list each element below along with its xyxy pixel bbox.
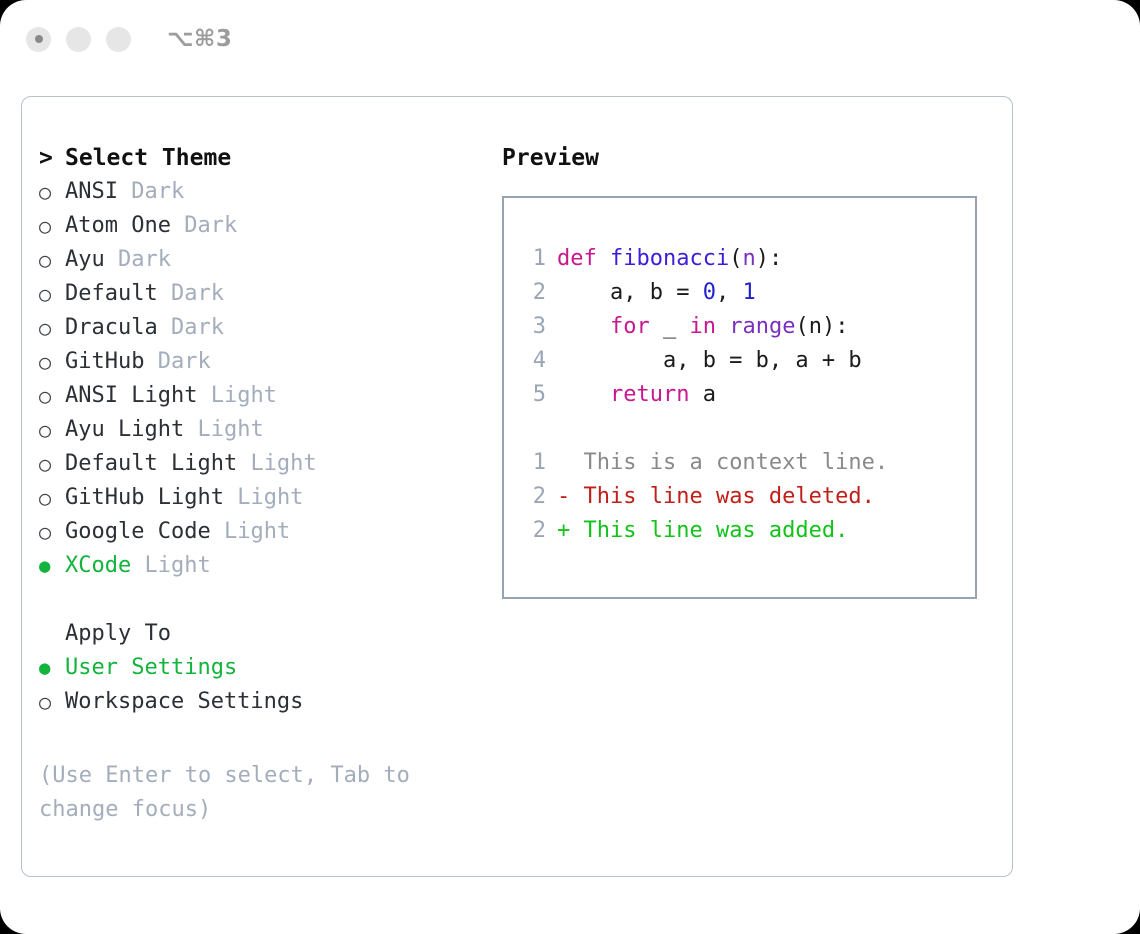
theme-name: ANSI Light (65, 379, 197, 413)
theme-option-ayu[interactable]: ○Ayu Dark (39, 243, 479, 277)
window-dot-active-inner (35, 35, 43, 43)
preview-title: Preview (502, 141, 992, 175)
code-token: ( (729, 242, 742, 276)
theme-option-default-light[interactable]: ○Default Light Light (39, 447, 479, 481)
code-token: def (557, 242, 597, 276)
code-token: 0 (703, 276, 716, 310)
section-spacer (39, 583, 479, 617)
code-line: 4 a, b = b, a + b (516, 344, 975, 378)
line-number: 1 (516, 242, 546, 276)
code-token: range (729, 310, 795, 344)
code-token: return (610, 378, 689, 412)
diff-line-context: 1 This is a context line. (516, 446, 975, 480)
code-token: a, b = (557, 276, 703, 310)
theme-tag: Light (237, 481, 303, 515)
radio-unselected-icon: ○ (39, 685, 65, 719)
radio-unselected-icon: ○ (39, 209, 65, 243)
diff-marker: - (557, 480, 570, 514)
code-token: a, b = b, a + b (557, 344, 862, 378)
diff-text: This is a context line. (570, 446, 888, 480)
apply-to-option-label: User Settings (65, 651, 237, 685)
window-dot-second[interactable] (66, 27, 91, 52)
radio-selected-icon: ● (39, 549, 65, 583)
line-number: 1 (516, 446, 546, 480)
line-number: 2 (516, 276, 546, 310)
code-token: 1 (742, 276, 755, 310)
code-token (557, 310, 610, 344)
theme-tag: Light (211, 379, 277, 413)
code-token: _ (650, 310, 690, 344)
theme-selector-column: >Select Theme ○ANSI Dark ○Atom One Dark … (39, 141, 479, 719)
theme-name: GitHub (65, 345, 144, 379)
diff-text: This line was added. (570, 514, 848, 548)
theme-name: Ayu (65, 243, 105, 277)
diff-line-deleted: 2- This line was deleted. (516, 480, 975, 514)
radio-selected-icon: ● (39, 651, 65, 685)
code-line: 5 return a (516, 378, 975, 412)
theme-name: GitHub Light (65, 481, 224, 515)
code-line: 1def fibonacci(n): (516, 242, 975, 276)
radio-unselected-icon: ○ (39, 515, 65, 549)
diff-line-added: 2+ This line was added. (516, 514, 975, 548)
theme-option-default[interactable]: ○Default Dark (39, 277, 479, 311)
code-token: n (809, 310, 822, 344)
theme-option-ayu-light[interactable]: ○Ayu Light Light (39, 413, 479, 447)
radio-unselected-icon: ○ (39, 447, 65, 481)
theme-name: Atom One (65, 209, 171, 243)
theme-tag: Dark (131, 175, 184, 209)
apply-to-workspace-settings[interactable]: ○Workspace Settings (39, 685, 479, 719)
theme-name: Dracula (65, 311, 158, 345)
apply-to-heading: ○Apply To (39, 617, 479, 651)
line-number: 5 (516, 378, 546, 412)
theme-option-ansi-light[interactable]: ○ANSI Light Light (39, 379, 479, 413)
code-token: for (610, 310, 650, 344)
radio-unselected-icon: ○ (39, 175, 65, 209)
radio-unselected-icon: ○ (39, 481, 65, 515)
radio-unselected-icon: ○ (39, 243, 65, 277)
radio-unselected-icon: ○ (39, 277, 65, 311)
theme-tag: Dark (171, 311, 224, 345)
apply-to-label: Apply To (65, 617, 171, 651)
theme-option-ansi[interactable]: ○ANSI Dark (39, 175, 479, 209)
theme-option-atom-one[interactable]: ○Atom One Dark (39, 209, 479, 243)
theme-name: Default Light (65, 447, 237, 481)
code-token (557, 378, 610, 412)
theme-tag: Light (224, 515, 290, 549)
radio-unselected-icon: ○ (39, 345, 65, 379)
diff-marker: + (557, 514, 570, 548)
preview-box: 1def fibonacci(n): 2 a, b = 0, 1 3 for _… (502, 196, 977, 599)
theme-tag: Dark (184, 209, 237, 243)
theme-name: Default (65, 277, 158, 311)
main-panel: >Select Theme ○ANSI Dark ○Atom One Dark … (21, 96, 1013, 877)
code-token: ): (756, 242, 783, 276)
theme-option-google-code[interactable]: ○Google Code Light (39, 515, 479, 549)
code-token: ( (795, 310, 808, 344)
code-token: n (742, 242, 755, 276)
spacer-icon: ○ (39, 617, 65, 651)
apply-to-user-settings[interactable]: ●User Settings (39, 651, 479, 685)
preview-gap (516, 412, 975, 446)
diff-marker (557, 446, 570, 480)
select-theme-heading: >Select Theme (39, 141, 479, 175)
code-token: in (689, 310, 716, 344)
theme-option-github-light[interactable]: ○GitHub Light Light (39, 481, 479, 515)
line-number: 2 (516, 480, 546, 514)
code-token: , (716, 276, 743, 310)
line-number: 2 (516, 514, 546, 548)
radio-unselected-icon: ○ (39, 379, 65, 413)
radio-unselected-icon: ○ (39, 311, 65, 345)
window-controls (26, 27, 131, 52)
theme-tag: Dark (158, 345, 211, 379)
theme-tag: Light (250, 447, 316, 481)
code-line: 2 a, b = 0, 1 (516, 276, 975, 310)
theme-name: Google Code (65, 515, 211, 549)
main-panel-body: >Select Theme ○ANSI Dark ○Atom One Dark … (22, 97, 1012, 876)
keyboard-shortcut-label: ⌥⌘3 (167, 26, 232, 52)
title-bar: ⌥⌘3 (0, 0, 1140, 78)
theme-tag: Dark (171, 277, 224, 311)
preview-column: Preview 1def fibonacci(n): 2 a, b = 0, 1… (502, 141, 992, 599)
code-line: 3 for _ in range(n): (516, 310, 975, 344)
theme-option-github[interactable]: ○GitHub Dark (39, 345, 479, 379)
code-token: a (689, 378, 716, 412)
theme-option-xcode[interactable]: ●XCode Light (39, 549, 479, 583)
apply-to-option-label: Workspace Settings (65, 685, 303, 719)
radio-unselected-icon: ○ (39, 413, 65, 447)
caret-icon: > (39, 141, 65, 175)
code-token (716, 310, 729, 344)
window-dot-third[interactable] (106, 27, 131, 52)
line-number: 3 (516, 310, 546, 344)
theme-tag: Dark (118, 243, 171, 277)
diff-text: This line was deleted. (570, 480, 875, 514)
code-token (597, 242, 610, 276)
theme-name: ANSI (65, 175, 118, 209)
window-dot-active[interactable] (26, 27, 51, 52)
theme-tag: Light (144, 549, 210, 583)
app-window: ⌥⌘3 >Select Theme ○ANSI Dark ○Atom One D… (0, 0, 1140, 934)
theme-tag: Light (197, 413, 263, 447)
theme-name: Ayu Light (65, 413, 184, 447)
theme-name: XCode (65, 549, 131, 583)
theme-option-dracula[interactable]: ○Dracula Dark (39, 311, 479, 345)
code-token: fibonacci (610, 242, 729, 276)
line-number: 4 (516, 344, 546, 378)
select-theme-heading-label: Select Theme (65, 141, 231, 175)
keyboard-hint-text: (Use Enter to select, Tab to change focu… (39, 759, 459, 827)
code-token: ): (822, 310, 849, 344)
